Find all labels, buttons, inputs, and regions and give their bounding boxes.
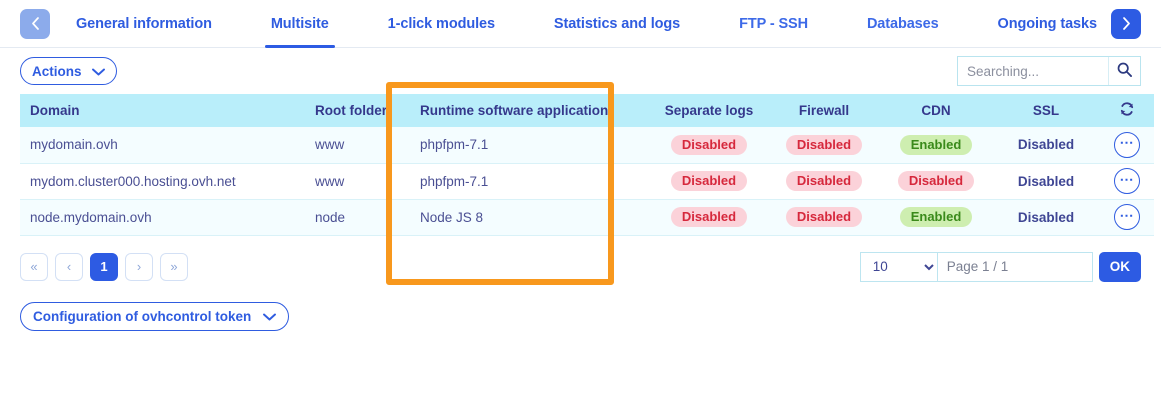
column-header-separate-logs[interactable]: Separate logs (650, 94, 768, 127)
status-badge: Enabled (900, 207, 973, 227)
cell-cdn: Disabled (880, 163, 992, 199)
cell-ssl: Disabled (992, 127, 1100, 163)
tab-1-click-modules[interactable]: 1-click modules (388, 0, 495, 48)
status-badge: Enabled (900, 135, 973, 155)
table-body: mydomain.ovh www phpfpm-7.1 Disabled Dis… (20, 127, 1154, 235)
chevron-right-icon (1122, 17, 1131, 30)
multisite-table: Domain Root folder Runtime software appl… (20, 94, 1154, 236)
cell-separate-logs: Disabled (650, 127, 768, 163)
search-icon (1117, 62, 1132, 80)
pagination-last-button[interactable]: » (160, 253, 188, 281)
pagination-prev-button[interactable]: ‹ (55, 253, 83, 281)
cell-root-folder: node (305, 199, 410, 235)
cell-runtime: Node JS 8 (410, 199, 650, 235)
ovhcontrol-token-config-label: Configuration of ovhcontrol token (33, 309, 251, 324)
refresh-button[interactable] (1119, 101, 1135, 120)
cell-domain: mydom.cluster000.hosting.ovh.net (20, 163, 305, 199)
footer: Configuration of ovhcontrol token (0, 286, 1161, 331)
column-header-root-folder[interactable]: Root folder (305, 94, 410, 127)
cell-actions: ⋯ (1100, 163, 1154, 199)
page-root: { "nav": { "prev_icon": "chevron-left-ic… (0, 0, 1161, 402)
table-row[interactable]: mydom.cluster000.hosting.ovh.net www php… (20, 163, 1154, 199)
status-badge: Disabled (786, 171, 862, 191)
actions-button-label: Actions (32, 64, 82, 79)
cell-domain: mydomain.ovh (20, 127, 305, 163)
tab-bar: General information Multisite 1-click mo… (0, 0, 1161, 48)
ellipsis-icon: ⋯ (1120, 138, 1135, 146)
cell-firewall: Disabled (768, 199, 880, 235)
row-actions-button[interactable]: ⋯ (1114, 204, 1140, 230)
row-actions-button[interactable]: ⋯ (1114, 132, 1140, 158)
column-header-ssl[interactable]: SSL (992, 94, 1100, 127)
cell-separate-logs: Disabled (650, 199, 768, 235)
status-badge: Disabled (898, 171, 974, 191)
cell-actions: ⋯ (1100, 127, 1154, 163)
table-row[interactable]: node.mydomain.ovh node Node JS 8 Disable… (20, 199, 1154, 235)
per-page-select[interactable]: 10 25 50 100 (860, 252, 938, 282)
cell-runtime: phpfpm-7.1 (410, 127, 650, 163)
cell-domain: node.mydomain.ovh (20, 199, 305, 235)
multisite-table-container: Domain Root folder Runtime software appl… (0, 94, 1161, 236)
cell-actions: ⋯ (1100, 199, 1154, 235)
row-actions-button[interactable]: ⋯ (1114, 168, 1140, 194)
tab-ongoing-tasks[interactable]: Ongoing tasks (998, 0, 1097, 48)
ovhcontrol-token-config-button[interactable]: Configuration of ovhcontrol token (20, 302, 289, 331)
cell-separate-logs: Disabled (650, 163, 768, 199)
pagination-first-button[interactable]: « (20, 253, 48, 281)
column-header-domain[interactable]: Domain (20, 94, 305, 127)
status-badge: Disabled (786, 135, 862, 155)
chevron-down-icon (92, 64, 105, 79)
cell-ssl: Disabled (992, 199, 1100, 235)
tabs-scroll-next-button[interactable] (1111, 9, 1141, 39)
table-header-row: Domain Root folder Runtime software appl… (20, 94, 1154, 127)
tabs-scroll-prev-button[interactable] (20, 9, 50, 39)
status-badge: Disabled (786, 207, 862, 227)
status-badge: Disabled (671, 207, 747, 227)
cell-cdn: Enabled (880, 199, 992, 235)
pagination-next-button[interactable]: › (125, 253, 153, 281)
cell-ssl: Disabled (992, 163, 1100, 199)
cell-root-folder: www (305, 127, 410, 163)
tab-multisite[interactable]: Multisite (271, 0, 329, 48)
status-badge: Disabled (671, 171, 747, 191)
column-header-actions (1100, 94, 1154, 127)
cell-firewall: Disabled (768, 163, 880, 199)
page-number-input[interactable] (938, 252, 1093, 282)
table-header: Domain Root folder Runtime software appl… (20, 94, 1154, 127)
status-badge: Disabled (671, 135, 747, 155)
pagination-bar: « ‹ 1 › » 10 25 50 100 OK (0, 236, 1161, 286)
pagination-page-1-button[interactable]: 1 (90, 253, 118, 281)
ellipsis-icon: ⋯ (1120, 211, 1135, 219)
tab-ftp-ssh[interactable]: FTP - SSH (739, 0, 808, 48)
column-header-cdn[interactable]: CDN (880, 94, 992, 127)
cell-runtime: phpfpm-7.1 (410, 163, 650, 199)
pagination-controls: « ‹ 1 › » (20, 253, 188, 281)
column-header-firewall[interactable]: Firewall (768, 94, 880, 127)
tab-general-information[interactable]: General information (76, 0, 212, 48)
ssl-status-text: Disabled (1018, 210, 1074, 225)
cell-firewall: Disabled (768, 127, 880, 163)
ssl-status-text: Disabled (1018, 137, 1074, 152)
ssl-status-text: Disabled (1018, 174, 1074, 189)
table-row[interactable]: mydomain.ovh www phpfpm-7.1 Disabled Dis… (20, 127, 1154, 163)
cell-root-folder: www (305, 163, 410, 199)
search-submit-button[interactable] (1108, 57, 1140, 85)
actions-button[interactable]: Actions (20, 57, 117, 85)
search-input[interactable] (958, 57, 1108, 85)
chevron-down-icon (263, 309, 276, 324)
ellipsis-icon: ⋯ (1120, 175, 1135, 183)
search-box (957, 56, 1141, 86)
chevron-left-icon (31, 17, 40, 30)
pagination-ok-button[interactable]: OK (1099, 252, 1141, 282)
tab-list: General information Multisite 1-click mo… (50, 0, 1111, 48)
column-header-runtime-software-application[interactable]: Runtime software application (410, 94, 650, 127)
refresh-icon (1119, 101, 1135, 120)
tab-statistics-and-logs[interactable]: Statistics and logs (554, 0, 680, 48)
pagination-right-controls: 10 25 50 100 OK (860, 252, 1141, 282)
cell-cdn: Enabled (880, 127, 992, 163)
table-toolbar: Actions (0, 48, 1161, 94)
tab-databases[interactable]: Databases (867, 0, 939, 48)
